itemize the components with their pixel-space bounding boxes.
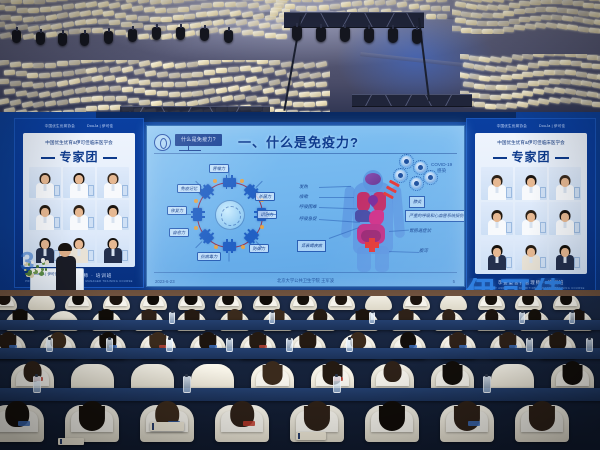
ceiling-light-scale [270, 11, 278, 16]
ceiling-light-scale [133, 88, 144, 93]
poster-expert-portrait [63, 167, 95, 198]
speaker-presenter [56, 244, 76, 296]
expert-figure [488, 244, 506, 270]
ceiling-light-scale [485, 103, 496, 109]
wheel-leader-line [229, 168, 230, 177]
symptom-box: 严重的呼吸和心血管系统损伤 [405, 210, 465, 222]
water-bottle [226, 338, 233, 352]
ceiling-light-scale [274, 3, 284, 8]
ceiling-light-scale [322, 91, 330, 96]
ceiling-light-scale [86, 1, 98, 8]
ceiling-light-scale [127, 78, 138, 84]
ceiling-light-scale [51, 6, 62, 12]
expert-face [493, 178, 501, 187]
ceiling-light-scale [310, 72, 322, 79]
ceiling-light-scale [519, 17, 530, 22]
ceiling-light-scale [538, 80, 549, 86]
expert-face [75, 240, 83, 249]
ceiling-light-scale [57, 61, 68, 66]
ceiling-light-scale [57, 80, 69, 87]
ceiling-light-scale [269, 99, 280, 105]
ceiling-light-scale [204, 70, 215, 75]
poster-expert-portrait [515, 237, 547, 270]
ceiling-light-scale [581, 99, 592, 105]
red-cross-icon [369, 238, 375, 252]
ceiling-light-scale [533, 70, 544, 75]
stage-light-fixture [224, 30, 233, 43]
ceiling-light-scale [127, 60, 139, 65]
ceiling-light-scale [92, 10, 104, 17]
ceiling-light-scale [15, 90, 27, 97]
ceiling-light-scale [145, 70, 157, 77]
notebook [150, 422, 184, 431]
audience-head [305, 401, 329, 427]
ceiling-light-scale [63, 4, 75, 10]
water-bottle [106, 338, 113, 352]
ceiling-light-scale [68, 78, 80, 85]
ceiling-light-scale [316, 101, 327, 107]
audience-member [0, 395, 38, 433]
ceiling-light-scale [565, 54, 576, 57]
ceiling-light-scale [45, 62, 56, 67]
ceiling-light-scale [425, 14, 435, 19]
product-box-icon [574, 187, 580, 198]
poster-logo-left: 中国优生优育协会 [45, 124, 75, 129]
ceiling-light-scale [298, 72, 310, 79]
slide-title: 一、什么是免疫力? [238, 132, 359, 151]
immunity-wheel-diagram: 吞噬力杀菌力识别力防御力抗病毒力自愈力修复力免疫记忆 [175, 166, 283, 266]
ceiling-light-scale [0, 32, 11, 39]
ceiling-light-scale [560, 78, 572, 84]
ceiling-light-scale [28, 8, 39, 13]
wheel-accent-dot [214, 245, 218, 249]
ceiling-light-scale [578, 26, 590, 32]
ceiling-light-scale [40, 7, 51, 13]
ceiling-light-scale [452, 26, 461, 31]
wheel-spoke [223, 242, 236, 251]
ceiling-light-scale [292, 81, 304, 88]
audience-head [523, 296, 535, 305]
expert-attire [556, 255, 574, 270]
ceiling-light-scale [11, 0, 22, 4]
ceiling-light-scale [549, 78, 560, 84]
ceiling-light-scale [420, 5, 430, 11]
ceiling-light-scale [115, 0, 127, 1]
poster-logos: 中国优生优育协会 DouJa | 伊可佳 [15, 122, 143, 131]
ceiling-light-scale [28, 25, 40, 32]
ceiling-light-scale [313, 0, 323, 2]
ceiling-light-scale [63, 70, 74, 76]
expert-attire [70, 183, 88, 198]
ceiling-light-scale [298, 91, 309, 97]
stage-light-fixture [200, 28, 209, 41]
ceiling-light-scale [549, 60, 560, 65]
ceiling-light-scale [341, 2, 351, 8]
ceiling-light-scale [479, 94, 490, 99]
poster-expert-grid [481, 167, 581, 270]
slide-footer-rule [154, 272, 457, 273]
ceiling-light-scale [109, 2, 121, 9]
ceiling-light-scale [145, 90, 156, 95]
ceiling-light-scale [482, 13, 493, 19]
ceiling-light-scale [228, 67, 239, 73]
wheel-leader-line [182, 214, 191, 215]
water-bottle [569, 312, 575, 324]
symptom-leader-line [319, 197, 354, 198]
ceiling-light-scale [506, 103, 518, 109]
product-box-icon [54, 217, 60, 228]
ceiling-light-scale [120, 3, 132, 10]
expert-figure [36, 204, 54, 230]
ceiling-light-scale [554, 54, 565, 56]
ceiling-light-scale [463, 81, 475, 87]
ceiling-light-scale [86, 67, 98, 74]
virus-icon [411, 178, 422, 189]
ceiling-light-scale [110, 65, 122, 72]
flower-petal [45, 268, 48, 271]
ceiling-light-scale [4, 69, 15, 75]
ceiling-light-scale [233, 75, 245, 82]
flower-petal [43, 265, 45, 267]
ceiling-light-scale [161, 33, 173, 40]
ceiling-light-scale [245, 95, 257, 101]
audience-area [0, 296, 600, 450]
ceiling-light-scale [533, 88, 545, 95]
ceiling-light-scale [10, 61, 21, 67]
ceiling-light-scale [161, 0, 173, 5]
flower-petal [31, 261, 34, 264]
ceiling-light-scale [33, 101, 45, 108]
ceiling-light-scale [257, 77, 269, 84]
ceiling-light-scale [565, 70, 576, 76]
ceiling-light-scale [139, 60, 151, 67]
audience-head [263, 361, 282, 382]
expert-face [41, 240, 49, 249]
ceiling-light-scale [63, 21, 75, 28]
audience-head [563, 361, 582, 382]
ceiling-light-scale [275, 88, 287, 95]
ceiling-light-scale [236, 2, 247, 8]
ceiling-light-scale [144, 7, 155, 13]
audience-member [256, 356, 290, 386]
backdrop-trim [96, 112, 516, 122]
expert-face [75, 208, 83, 217]
ceiling-light-scale [587, 55, 598, 60]
ceiling-light-scale [16, 71, 27, 76]
body-symptom-diagram: COVID-19 感染 发热咳嗽呼吸困难呼吸急促肾衰竭疾病 肺炎严重的呼吸和心血… [297, 154, 457, 272]
audience-member [405, 296, 426, 306]
ceiling-light-scale [592, 101, 600, 107]
expert-face [561, 213, 569, 222]
ceiling-light-scale [549, 97, 561, 104]
expert-figure [522, 209, 540, 235]
stage-light-fixture [104, 31, 113, 44]
product-box-icon [574, 257, 580, 268]
expert-figure [36, 172, 54, 198]
ceiling-light-scale [4, 88, 15, 94]
wheel-leader-line [195, 241, 202, 248]
ceiling-light-scale [269, 60, 280, 66]
ceiling-light-scale [181, 72, 192, 78]
ceiling-light-scale [190, 5, 201, 10]
ceiling-light-scale [583, 18, 595, 25]
ceiling-light-scale [23, 0, 34, 4]
ceiling-light-scale [92, 75, 104, 82]
ceiling-light-scale [245, 60, 256, 63]
ceiling-light-scale [503, 11, 514, 16]
wheel-accent-dot [194, 199, 198, 203]
ceiling-light-scale [239, 66, 250, 72]
ceiling-light-scale [22, 16, 33, 22]
ceiling-light-scale [466, 19, 477, 25]
expert-face [75, 175, 83, 184]
poster-expert-portrait [481, 202, 513, 235]
ceiling-light-scale [310, 92, 321, 98]
audience-member [221, 395, 263, 433]
slide-footer-affiliation: 北京大学公共卫生学院 王军波 [277, 278, 334, 284]
ceiling-light-scale [559, 97, 571, 104]
ceiling-light-scale [482, 29, 493, 34]
audience-head [443, 361, 462, 382]
ceiling-light-scale [259, 22, 271, 28]
audience-member [518, 296, 539, 306]
audience-member [143, 296, 164, 306]
ceiling-light-scale [425, 0, 436, 3]
audience-member [436, 356, 470, 386]
ceiling-light-scale [169, 72, 180, 78]
ceiling-light-scale [149, 17, 160, 22]
stage-light-fixture [58, 33, 67, 46]
product-box-icon [88, 185, 94, 196]
water-bottle [369, 312, 375, 324]
virus-icon [401, 156, 412, 167]
ceiling-light-scale [581, 62, 592, 67]
ceiling-light-scale [487, 21, 498, 26]
product-box-icon [122, 185, 128, 196]
symptom-label: 呼吸困难 [299, 204, 317, 210]
poster-title-text: 专家团 [511, 150, 550, 164]
stage-light-fixture [36, 32, 45, 45]
ceiling-light-scale [330, 4, 340, 10]
symptom-box: 肾衰竭疾病 [297, 240, 326, 252]
expert-figure [522, 174, 540, 200]
ceiling-light-scale [546, 22, 558, 29]
expert-face [493, 248, 501, 257]
ceiling-light-scale [501, 75, 512, 81]
ceiling-light-scale [34, 0, 45, 4]
ceiling-light-scale [173, 15, 184, 20]
expert-face [109, 208, 117, 217]
ceiling-light-scale [471, 29, 482, 34]
expert-figure [488, 174, 506, 200]
product-box-icon [122, 250, 128, 261]
ceiling-light-scale [594, 20, 600, 27]
poster-expert-portrait [515, 202, 547, 235]
ceiling-light-scale [161, 16, 172, 21]
ceiling-light-scale [466, 3, 478, 10]
audience-member [180, 296, 201, 306]
ceiling-light-scale [522, 90, 534, 96]
expert-figure [104, 172, 122, 198]
stage-light-fixture [388, 28, 398, 43]
ceiling-light-scale [86, 19, 97, 25]
ceiling-light-scale [213, 19, 225, 26]
ceiling-light-scale [104, 95, 115, 100]
stage-light-fixture [128, 29, 137, 42]
covid-label: COVID-19 感染 [431, 162, 452, 174]
ceiling-light-scale [259, 4, 271, 11]
poster-expert-portrait [549, 202, 581, 235]
water-bottle [586, 338, 593, 352]
ceiling-light-scale [592, 82, 600, 89]
ceiling-light-scale [216, 87, 228, 94]
ceiling-light-scale [257, 97, 268, 103]
ceiling-light-scale [132, 23, 143, 28]
ceiling-light-scale [490, 94, 501, 99]
ceiling-light-scale [498, 4, 510, 10]
ceiling-light-scale [236, 19, 248, 26]
audience-member [296, 395, 338, 433]
wheel-leader-line [229, 253, 230, 262]
ceiling-light-scale [560, 60, 571, 65]
ceiling-light-scale [9, 99, 21, 106]
ceiling-light-scale [17, 8, 28, 13]
ceiling-light-scale [251, 85, 263, 92]
ceiling-light-scale [575, 90, 587, 97]
ceiling-light-scale [503, 27, 514, 33]
stage-light-fixture [12, 30, 21, 43]
audience-head [383, 361, 402, 382]
expert-attire [488, 255, 506, 270]
ceiling-light-scale [414, 0, 425, 2]
ceiling-light-scale [538, 61, 549, 67]
ceiling-light-scale [80, 96, 91, 102]
ceiling-light-scale [57, 12, 69, 19]
ceiling-light-scale [45, 14, 57, 21]
ceiling-light-scale [184, 30, 196, 37]
virus-icon [395, 170, 406, 181]
poster-card: 中国优生优育&伊可佳临床医学会 专家团 [23, 133, 135, 267]
symptom-leader-line [319, 207, 357, 209]
ceiling-light-scale [397, 1, 408, 7]
audience-head [560, 296, 572, 305]
ceiling-light-scale [192, 71, 203, 76]
ceiling-light-scale [290, 0, 300, 2]
poster-logo-left: 中国优生优育协会 [497, 124, 527, 129]
shirt-graphic [18, 421, 31, 426]
ceiling-light-scale [80, 76, 92, 83]
poster-expert-portrait [549, 167, 581, 200]
expert-figure [70, 172, 88, 198]
lighting-truss [284, 12, 424, 28]
ceiling-light-scale [530, 0, 541, 5]
ceiling-light-scale [213, 2, 224, 7]
wheel-accent-dot [240, 179, 244, 183]
wheel-spoke [193, 208, 202, 221]
audience-head [335, 296, 347, 305]
expert-attire [36, 215, 54, 230]
ceiling-light-scale [21, 63, 32, 69]
ceiling-light-scale [498, 21, 509, 26]
product-box-icon [540, 187, 546, 198]
ceiling-light-scale [253, 13, 265, 20]
wheel-spoke [223, 178, 236, 187]
ceiling-light-scale [21, 82, 32, 88]
ceiling-light-scale [570, 61, 581, 66]
poster-subtitle: 中国优生优育&伊可佳临床医学会 [23, 140, 135, 146]
poster-expert-portrait [29, 167, 61, 198]
ceiling-light-scale [151, 81, 162, 87]
ceiling-light-scale [163, 62, 175, 69]
ceiling-light-scale [503, 0, 515, 1]
ceiling-light-scale [80, 10, 92, 17]
ceiling-light-scale [471, 12, 483, 18]
symptom-leader-line [389, 251, 419, 253]
audience-member [556, 356, 590, 386]
expert-attire [70, 215, 88, 230]
audience-head [298, 296, 310, 305]
ceiling-light-scale [80, 60, 91, 63]
ceiling-light-scale [276, 34, 287, 39]
ceiling-light-scale [230, 10, 242, 17]
ceiling-light-scale [222, 76, 234, 82]
poster-expert-portrait [97, 232, 129, 263]
ceiling-light-scale [178, 7, 189, 12]
ceiling-light-scale [224, 18, 236, 25]
ceiling-light-scale [224, 1, 235, 7]
poster-logo-right: DouJa | 伊可佳 [87, 124, 113, 129]
wheel-label: 自愈力 [169, 228, 189, 237]
stage-light-fixture [80, 33, 89, 46]
expert-attire [522, 255, 540, 270]
wheel-core-cell-icon [215, 200, 245, 230]
audience-table [0, 348, 600, 359]
conference-hall-photo: 中国优生优育协会 DouJa | 伊可佳 中国优生优育&伊可佳临床医学会 专家团… [0, 0, 600, 450]
ceiling-light-scale [186, 61, 197, 67]
ceiling-light-scale [97, 1, 109, 8]
product-box-icon [574, 222, 580, 233]
ceiling-light-scale [482, 0, 494, 3]
water-bottle [483, 376, 491, 393]
ceiling-light-scale [92, 28, 103, 33]
audience-member [330, 296, 351, 306]
ceiling-light-scale [233, 95, 245, 102]
ceiling-light-scale [269, 79, 281, 86]
ceiling-light-scale [253, 0, 264, 2]
ceiling-light-scale [27, 72, 38, 77]
audience-member [371, 395, 413, 433]
symptom-label: 胃肠道症状 [409, 228, 431, 234]
ceiling-light-scale [151, 61, 163, 68]
ceiling-light-scale [247, 3, 259, 9]
ceiling-light-scale [576, 54, 587, 58]
ceiling-light-scale [501, 94, 512, 100]
poster-expert-portrait [481, 167, 513, 200]
ceiling-light-scale [257, 60, 268, 64]
brain-icon [365, 173, 381, 185]
ceiling-light-scale [474, 64, 486, 71]
wheel-label: 抗病毒力 [197, 252, 221, 261]
flower-arrangement [22, 258, 48, 276]
product-box-icon [88, 250, 94, 261]
ceiling-light-scale [175, 82, 186, 87]
ceiling-light-scale [408, 3, 418, 9]
product-box-icon [506, 187, 512, 198]
ceiling-light-scale [285, 4, 295, 9]
ceiling-light-scale [46, 0, 57, 2]
water-bottle [33, 376, 41, 393]
expert-attire [488, 185, 506, 200]
